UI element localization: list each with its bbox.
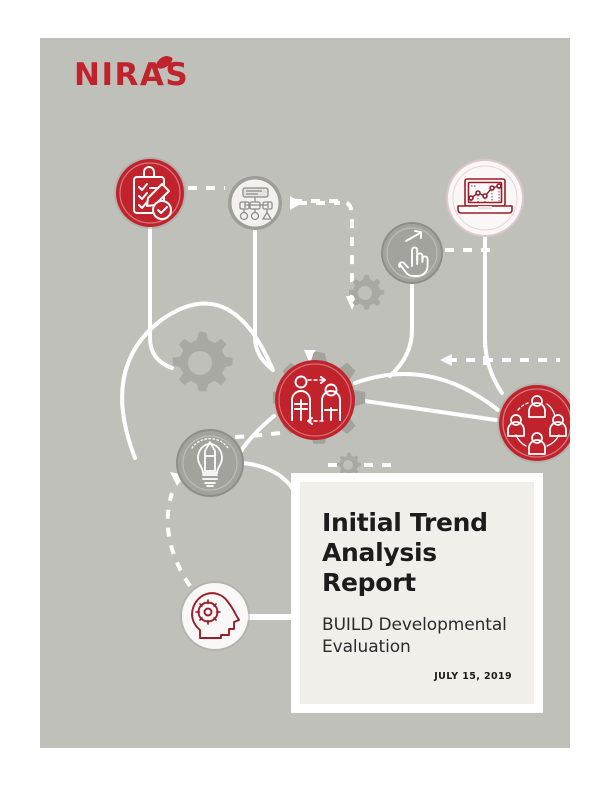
page-title-line-1: Initial Trend	[322, 508, 488, 537]
niras-logo-text: NIRAS	[74, 52, 274, 98]
node-people-hub	[273, 351, 365, 443]
title-card-frame: Initial TrendAnalysis Report BUILD Devel…	[291, 473, 543, 713]
node-mindset-head	[180, 581, 250, 651]
gear-decoration-top	[349, 274, 384, 309]
page-subtitle-line-2: Evaluation	[322, 637, 411, 657]
node-clipboard-checklist	[114, 157, 186, 229]
publication-date: JULY 15, 2019	[434, 671, 512, 682]
gear-decoration-left	[173, 332, 233, 392]
report-cover-page: NIRAS Initial TrendAnalysis Report BUILD…	[0, 0, 612, 800]
page-title-line-2: Analysis Report	[322, 538, 437, 597]
page-subtitle: BUILD DevelopmentalEvaluation	[322, 615, 512, 658]
node-flowchart-hierarchy	[228, 176, 282, 230]
node-hand-gesture	[381, 222, 443, 284]
page-title: Initial TrendAnalysis Report	[322, 508, 512, 597]
node-team-network	[497, 383, 570, 463]
niras-logo: NIRAS	[74, 52, 274, 98]
page-subtitle-line-1: BUILD Developmental	[322, 615, 507, 635]
node-laptop-chart	[446, 159, 524, 237]
node-lightbulb-idea	[176, 429, 244, 497]
title-card: Initial TrendAnalysis Report BUILD Devel…	[300, 482, 534, 704]
